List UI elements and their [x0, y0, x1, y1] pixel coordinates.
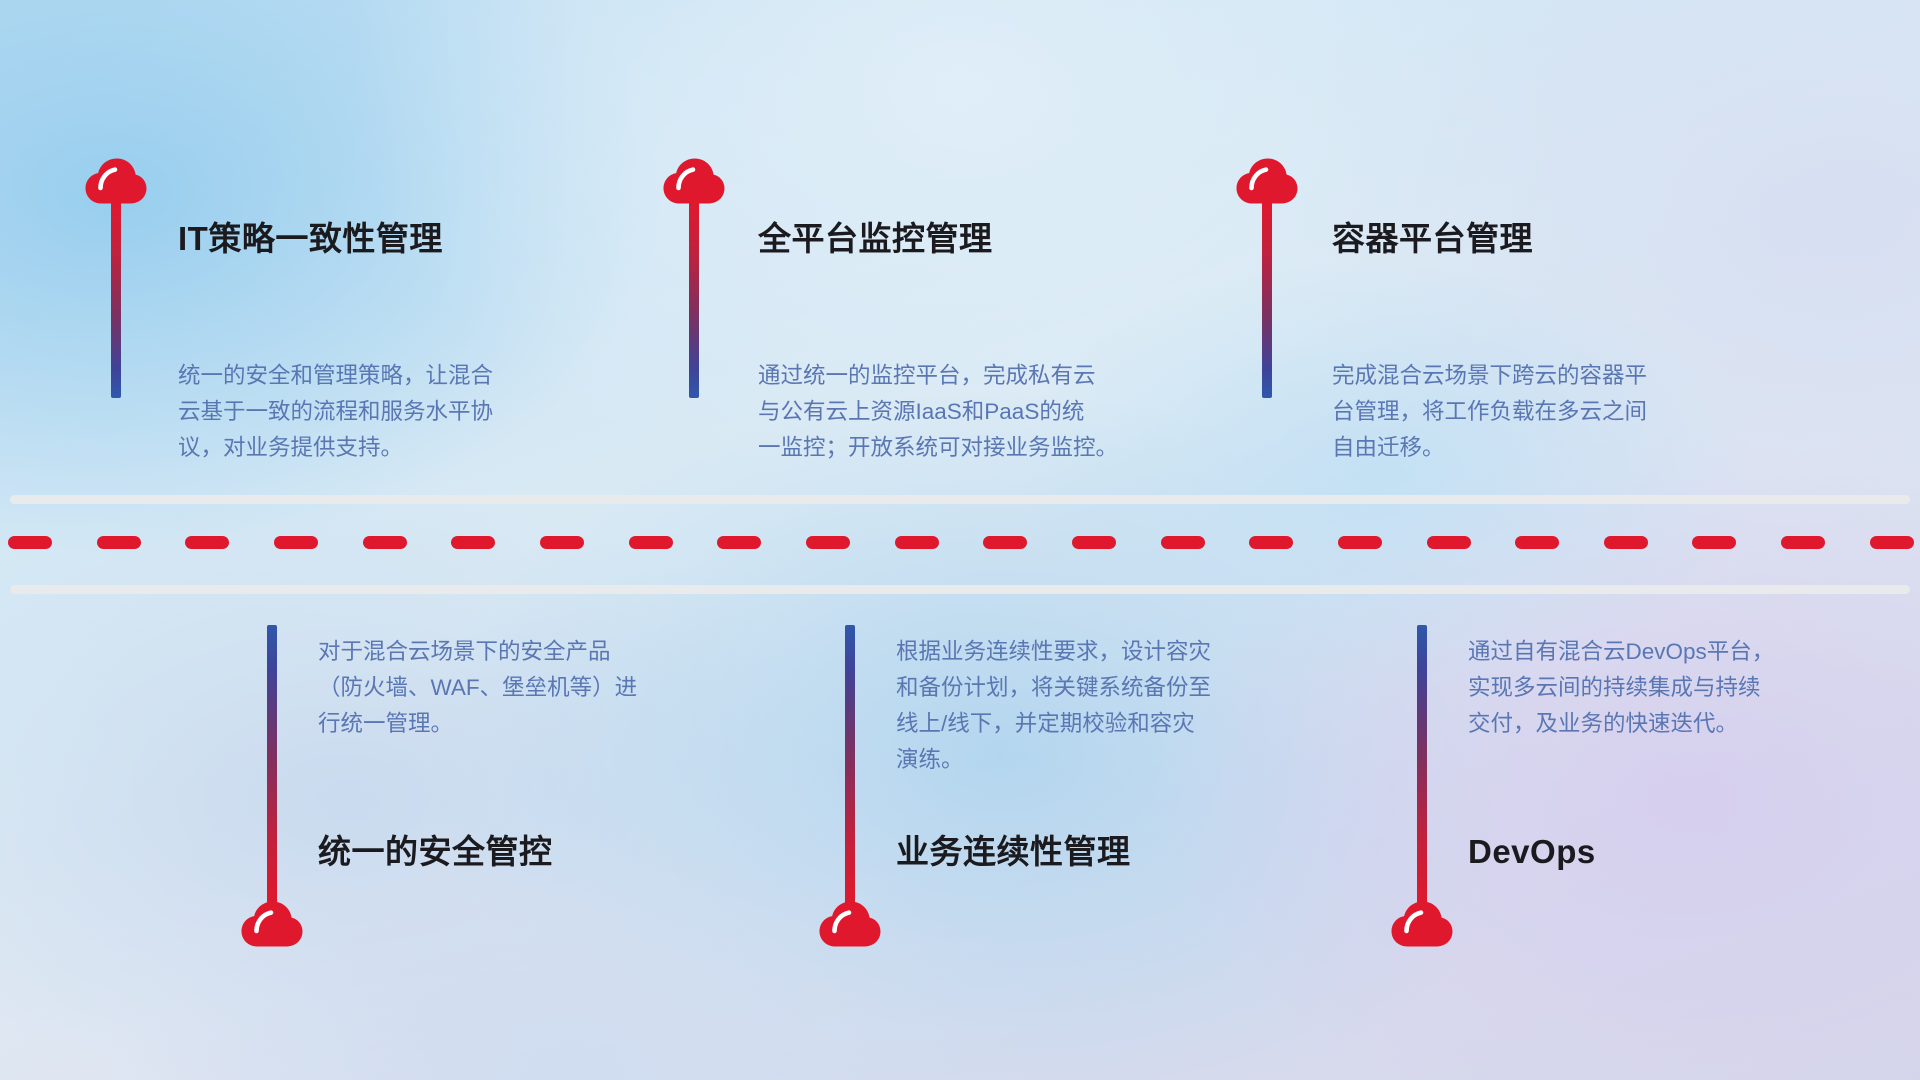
- heading-devops: DevOps: [1468, 835, 1596, 868]
- divider-dashed-line: [8, 536, 1914, 549]
- body-devops: 通过自有混合云DevOps平台， 实现多云间的持续集成与持续 交付，及业务的快速…: [1468, 634, 1888, 742]
- body-it-policy: 统一的安全和管理策略，让混合 云基于一致的流程和服务水平协 议，对业务提供支持。: [178, 358, 598, 466]
- divider-dash: [97, 536, 141, 549]
- divider-dash: [1604, 536, 1648, 549]
- center-divider: [0, 485, 1920, 605]
- divider-dash: [629, 536, 673, 549]
- divider-dash: [451, 536, 495, 549]
- body-unified-security: 对于混合云场景下的安全产品 （防火墙、WAF、堡垒机等）进 行统一管理。: [318, 634, 738, 742]
- body-business-continuity: 根据业务连续性要求，设计容灾 和备份计划，将关键系统备份至 线上/线下，并定期校…: [896, 634, 1316, 778]
- cloud-icon: [663, 158, 725, 204]
- divider-dash: [895, 536, 939, 549]
- divider-dash: [363, 536, 407, 549]
- divider-dash: [983, 536, 1027, 549]
- body-container-platform: 完成混合云场景下跨云的容器平 台管理，将工作负载在多云之间 自由迁移。: [1332, 358, 1752, 466]
- divider-dash: [274, 536, 318, 549]
- stem-top-2: [689, 202, 699, 398]
- divider-dash: [806, 536, 850, 549]
- heading-platform-monitoring: 全平台监控管理: [758, 222, 993, 255]
- stem-top-3: [1262, 202, 1272, 398]
- divider-dash: [1692, 536, 1736, 549]
- cloud-icon: [1391, 901, 1453, 947]
- divider-dash: [1161, 536, 1205, 549]
- divider-dash: [1781, 536, 1825, 549]
- heading-container-platform: 容器平台管理: [1332, 222, 1533, 255]
- cloud-icon: [1236, 158, 1298, 204]
- stem-top-1: [111, 202, 121, 398]
- stem-bottom-2: [845, 625, 855, 905]
- body-platform-monitoring: 通过统一的监控平台，完成私有云 与公有云上资源IaaS和PaaS的统 一监控；开…: [758, 358, 1178, 466]
- divider-rail-top: [10, 495, 1910, 504]
- divider-dash: [717, 536, 761, 549]
- heading-it-policy: IT策略一致性管理: [178, 222, 443, 255]
- heading-unified-security: 统一的安全管控: [318, 835, 553, 868]
- divider-dash: [8, 536, 52, 549]
- heading-business-continuity: 业务连续性管理: [896, 835, 1131, 868]
- cloud-icon: [241, 901, 303, 947]
- stem-bottom-1: [267, 625, 277, 905]
- divider-rail-bottom: [10, 585, 1910, 594]
- divider-dash: [1249, 536, 1293, 549]
- divider-dash: [1427, 536, 1471, 549]
- divider-dash: [540, 536, 584, 549]
- divider-dash: [1338, 536, 1382, 549]
- divider-dash: [1870, 536, 1914, 549]
- cloud-icon: [819, 901, 881, 947]
- divider-dash: [1072, 536, 1116, 549]
- infographic-canvas: IT策略一致性管理 统一的安全和管理策略，让混合 云基于一致的流程和服务水平协 …: [0, 0, 1920, 1080]
- stem-bottom-3: [1417, 625, 1427, 905]
- divider-dash: [1515, 536, 1559, 549]
- cloud-icon: [85, 158, 147, 204]
- divider-dash: [185, 536, 229, 549]
